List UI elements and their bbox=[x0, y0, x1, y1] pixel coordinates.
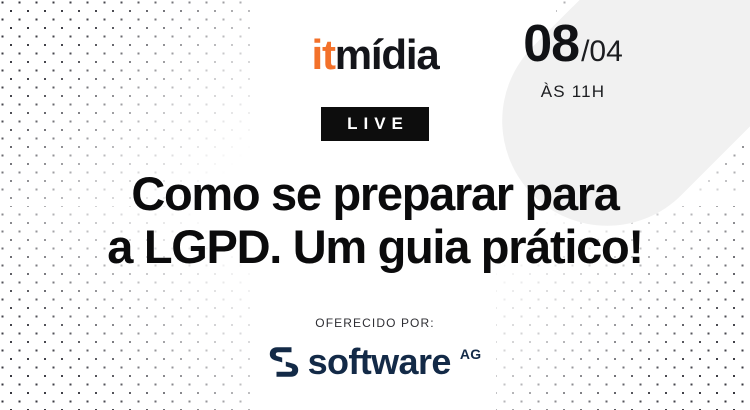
headline-line-2: a LGPD. Um guia prático! bbox=[0, 221, 750, 274]
webinar-banner: 08 /04 ÀS 11H itmídia LIVE Como se prepa… bbox=[0, 0, 750, 410]
software-ag-mark-icon bbox=[269, 345, 299, 379]
live-badge: LIVE bbox=[321, 107, 429, 141]
brand-name-accent: it bbox=[312, 31, 335, 78]
headline-line-1: Como se preparar para bbox=[0, 168, 750, 221]
sponsor-section: OFERECIDO POR: software AG bbox=[0, 316, 750, 380]
sponsor-name: software bbox=[308, 344, 451, 380]
brand-logo: itmídia bbox=[0, 34, 750, 76]
event-time: ÀS 11H bbox=[458, 82, 688, 102]
sponsor-suffix: AG bbox=[460, 346, 482, 362]
live-badge-wrapper: LIVE bbox=[0, 107, 750, 141]
brand-name-dark: mídia bbox=[335, 31, 439, 78]
brand-wordmark: itmídia bbox=[312, 31, 439, 78]
sponsor-label: OFERECIDO POR: bbox=[0, 316, 750, 330]
sponsor-logo: software AG bbox=[0, 344, 750, 380]
page-title: Como se preparar para a LGPD. Um guia pr… bbox=[0, 168, 750, 273]
